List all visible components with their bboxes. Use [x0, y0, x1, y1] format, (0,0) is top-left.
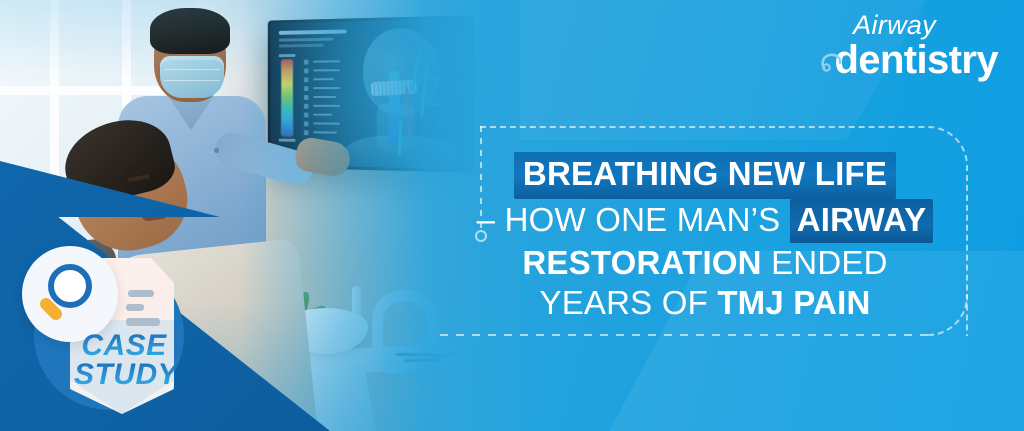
badge-text: CASE STUDY: [74, 332, 174, 390]
case-study-badge: CASE STUDY: [22, 246, 200, 426]
badge-line-2: STUDY: [74, 361, 174, 390]
document-line-1: [128, 290, 154, 297]
headline-line-2-highlight: AIRWAY: [790, 199, 934, 244]
document-line-2: [126, 304, 144, 311]
magnifier-lens: [48, 264, 92, 308]
headline-line-1: BREATHING NEW LIFE: [458, 152, 952, 199]
headline-line-3-suffix: ENDED: [762, 244, 888, 281]
case-study-banner: CASE STUDY BREATHING NEW LIFE – HOW ONE …: [0, 0, 1024, 431]
page-title: BREATHING NEW LIFE – HOW ONE MAN’S AIRWA…: [458, 152, 952, 322]
headline-line-3: RESTORATION ENDED: [458, 243, 952, 283]
airway-swoosh-icon: [820, 48, 846, 74]
headline-line-1-text: BREATHING NEW LIFE: [514, 152, 896, 199]
headline-line-4: YEARS OF TMJ PAIN: [458, 283, 952, 323]
headline-block: BREATHING NEW LIFE – HOW ONE MAN’S AIRWA…: [440, 126, 968, 336]
headline-line-3-highlight: RESTORATION: [522, 244, 761, 281]
dashed-bottom-edge: [440, 334, 928, 336]
magnifying-glass-icon: [22, 246, 118, 342]
headline-line-2-prefix: – HOW ONE MAN’S: [477, 201, 790, 238]
headline-line-4-prefix: YEARS OF: [539, 284, 717, 321]
brand-logo[interactable]: Airway dentistry: [808, 12, 998, 84]
logo-top-word: Airway: [808, 12, 998, 39]
badge-line-1: CASE: [74, 332, 174, 361]
document-line-3: [126, 318, 160, 326]
headline-line-4-highlight: TMJ PAIN: [717, 284, 870, 321]
headline-line-2: – HOW ONE MAN’S AIRWAY: [458, 199, 952, 244]
